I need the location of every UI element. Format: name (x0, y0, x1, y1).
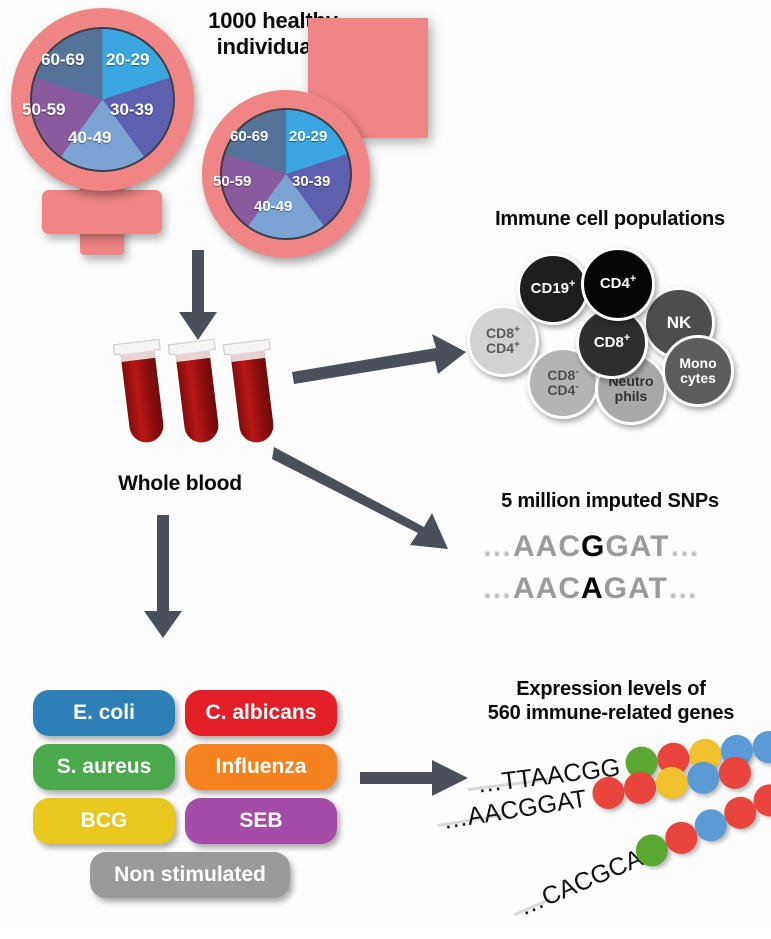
immune-cell-cd19pos[interactable]: CD19+ (517, 253, 589, 325)
arrow-blood-to-snps (272, 445, 462, 555)
stimulus-influenza[interactable]: Influenza (185, 744, 337, 790)
stimulus-label: E. coli (73, 701, 135, 725)
snp-suffix: … (668, 572, 699, 605)
snp-suffix: … (669, 530, 700, 563)
arrow-down-cohort-to-blood (175, 250, 221, 342)
male-pie-label-20-29: 20-29 (289, 128, 327, 145)
snp-left: AAC (513, 572, 581, 605)
stimulus-label: Non stimulated (114, 863, 266, 887)
immune-cell-label: NK (667, 314, 692, 332)
immune-cell-label: CD4+ (600, 276, 636, 292)
stimulus-seb[interactable]: SEB (185, 798, 337, 844)
immune-heading: Immune cell populations (455, 208, 765, 232)
female-pie-label-50-59: 50-59 (22, 100, 65, 120)
arrow-down-blood-to-stimuli (140, 515, 186, 640)
female-pie-label-60-69: 60-69 (41, 50, 84, 70)
stimulus-label: S. aureus (57, 755, 152, 779)
snp-sequence-row-1: …AACGGAT… (482, 530, 700, 564)
male-symbol[interactable]: 20-29 30-39 40-49 50-59 60-69 (196, 18, 426, 248)
male-pie-label-50-59: 50-59 (213, 173, 251, 190)
snp-right: GAT (605, 530, 669, 563)
stimulus-bcg[interactable]: BCG (33, 798, 175, 844)
female-pie-label-30-39: 30-39 (110, 100, 153, 120)
whole-blood-label: Whole blood (80, 472, 280, 497)
male-pie-label-30-39: 30-39 (292, 173, 330, 190)
immune-cell-label: CD8+ (594, 335, 630, 351)
arrow-stimuli-to-expression (360, 758, 470, 800)
snp-variant: A (581, 572, 604, 605)
expression-bead (590, 775, 627, 812)
snp-prefix: … (482, 572, 513, 605)
immune-cell-label: Monocytes (679, 356, 716, 385)
whole-blood-tubes (110, 338, 290, 458)
immune-cell-label: CD19+ (531, 281, 576, 297)
expression-bead (717, 755, 754, 792)
snps-heading: 5 million imputed SNPs (465, 490, 755, 514)
arrow-blood-to-immune-cells (290, 330, 470, 390)
expression-bead (622, 770, 659, 807)
male-pie-label-60-69: 60-69 (230, 128, 268, 145)
female-symbol[interactable]: 20-29 30-39 40-49 50-59 60-69 (0, 8, 210, 248)
female-pie-label-20-29: 20-29 (106, 50, 149, 70)
expression-heading: Expression levels of 560 immune-related … (455, 678, 767, 725)
snp-prefix: … (482, 530, 513, 563)
snp-sequence-row-2: …AACAGAT… (482, 572, 699, 606)
immune-cell-label: CD8- CD4- (547, 368, 578, 397)
stimulus-label: C. albicans (206, 701, 317, 725)
stimulus-label: SEB (239, 809, 282, 833)
male-pie-label-40-49: 40-49 (254, 198, 292, 215)
stimulus-non-stimulated[interactable]: Non stimulated (90, 852, 290, 898)
immune-cell-monocytes[interactable]: Monocytes (662, 335, 734, 407)
immune-cell-cd4pos[interactable]: CD4+ (581, 247, 655, 321)
stimulus-s-aureus[interactable]: S. aureus (33, 744, 175, 790)
expression-bead (751, 729, 771, 765)
expression-bead (685, 760, 722, 797)
stimulus-e-coli[interactable]: E. coli (33, 690, 175, 736)
stimulus-label: Influenza (215, 755, 306, 779)
female-pie-label-40-49: 40-49 (68, 128, 111, 148)
immune-cell-label: CD8+ CD4+ (486, 326, 520, 355)
snp-variant: G (581, 530, 605, 563)
stimulus-c-albicans[interactable]: C. albicans (185, 690, 337, 736)
expression-heading-line2: 560 immune-related genes (455, 702, 767, 726)
snp-left: AAC (513, 530, 581, 563)
expression-bead (653, 765, 690, 802)
female-symbol-stem-horizontal (42, 190, 162, 234)
stimulus-label: BCG (81, 809, 128, 833)
immune-cell-cluster: CD8+ CD4+ CD19+ CD4+ NK CD8+ CD8- CD4- N… (465, 245, 755, 420)
expression-heading-line1: Expression levels of (455, 678, 767, 702)
snp-right: GAT (604, 572, 668, 605)
